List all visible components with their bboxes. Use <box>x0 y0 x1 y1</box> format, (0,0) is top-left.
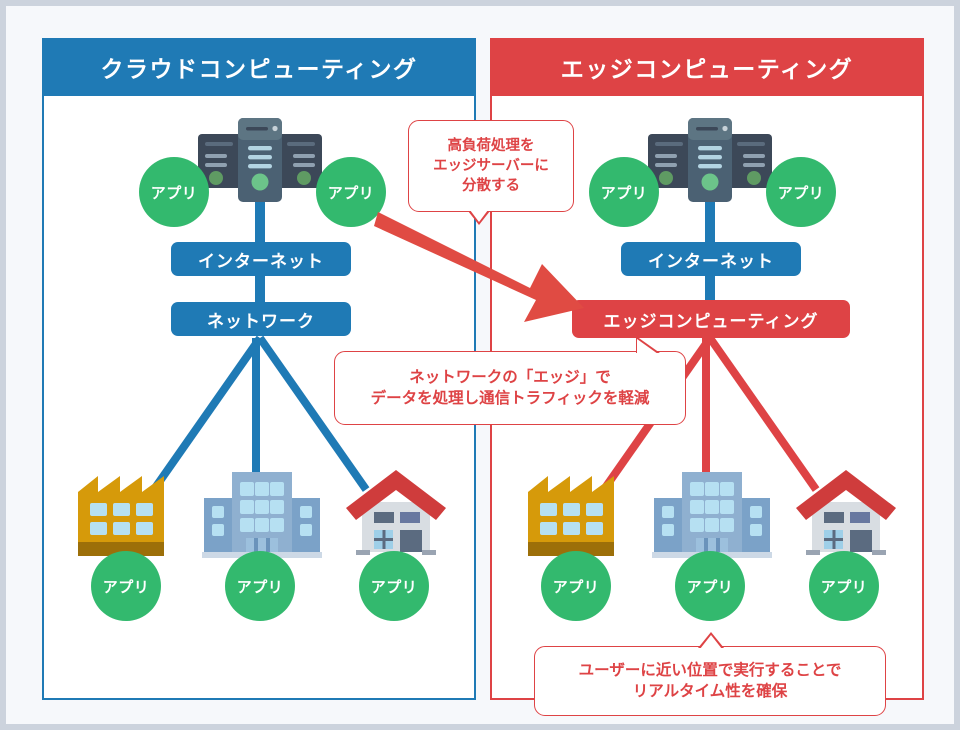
app-circle-edge-top-right[interactable]: アプリ <box>766 157 836 227</box>
app-label: アプリ <box>371 576 418 597</box>
app-circle-cloud-office[interactable]: アプリ <box>225 551 295 621</box>
callout-realtime-tail-inner <box>700 635 722 649</box>
node-label: ネットワーク <box>207 307 315 332</box>
app-label: アプリ <box>237 576 284 597</box>
panel-cloud-title: クラウドコンピューティング <box>42 38 476 96</box>
node-internet-cloud[interactable]: インターネット <box>171 242 351 276</box>
office-building-icon-edge <box>652 454 772 558</box>
callout-edge-processing-line-1: ネットワークの「エッジ」で <box>371 367 650 388</box>
app-circle-cloud-house[interactable]: アプリ <box>359 551 429 621</box>
office-building-icon-cloud <box>202 454 322 558</box>
callout-offload: 高負荷処理を エッジサーバーに 分散する <box>408 120 574 212</box>
node-label: インターネット <box>648 247 774 272</box>
app-label: アプリ <box>151 182 198 203</box>
app-label: アプリ <box>328 182 375 203</box>
server-rack-edge <box>642 114 778 206</box>
node-label: エッジコンピューティング <box>604 307 819 332</box>
callout-realtime-line-2: リアルタイム性を確保 <box>579 681 842 702</box>
callout-realtime: ユーザーに近い位置で実行することで リアルタイム性を確保 <box>534 646 886 716</box>
diagram-canvas: クラウドコンピューティング エッジコンピューティング <box>6 6 954 724</box>
house-icon-cloud <box>342 468 450 558</box>
callout-edge-processing-tail-inner <box>637 339 658 354</box>
app-circle-cloud-top-left[interactable]: アプリ <box>139 157 209 227</box>
house-icon-edge <box>792 468 900 558</box>
callout-offload-line-1: 高負荷処理を <box>433 136 549 156</box>
app-circle-cloud-factory[interactable]: アプリ <box>91 551 161 621</box>
app-circle-edge-factory[interactable]: アプリ <box>541 551 611 621</box>
app-circle-edge-top-left[interactable]: アプリ <box>589 157 659 227</box>
app-label: アプリ <box>821 576 868 597</box>
server-rack-cloud <box>192 114 328 206</box>
app-label: アプリ <box>778 182 825 203</box>
callout-edge-processing-line-2: データを処理し通信トラフィックを軽減 <box>371 388 650 409</box>
node-network-cloud[interactable]: ネットワーク <box>171 302 351 336</box>
node-label: インターネット <box>198 247 324 272</box>
callout-offload-tail-inner <box>470 210 488 222</box>
factory-icon-cloud <box>76 456 186 556</box>
callout-edge-processing: ネットワークの「エッジ」で データを処理し通信トラフィックを軽減 <box>334 351 686 425</box>
app-circle-edge-office[interactable]: アプリ <box>675 551 745 621</box>
callout-offload-line-2: エッジサーバーに <box>433 156 549 176</box>
node-internet-edge[interactable]: インターネット <box>621 242 801 276</box>
app-label: アプリ <box>103 576 150 597</box>
app-label: アプリ <box>687 576 734 597</box>
callout-offload-line-3: 分散する <box>433 176 549 196</box>
app-label: アプリ <box>553 576 600 597</box>
app-circle-edge-house[interactable]: アプリ <box>809 551 879 621</box>
node-edge-computing[interactable]: エッジコンピューティング <box>572 300 850 338</box>
app-label: アプリ <box>601 182 648 203</box>
panel-edge-title: エッジコンピューティング <box>490 38 924 96</box>
factory-icon-edge <box>526 456 636 556</box>
callout-realtime-line-1: ユーザーに近い位置で実行することで <box>579 660 842 681</box>
